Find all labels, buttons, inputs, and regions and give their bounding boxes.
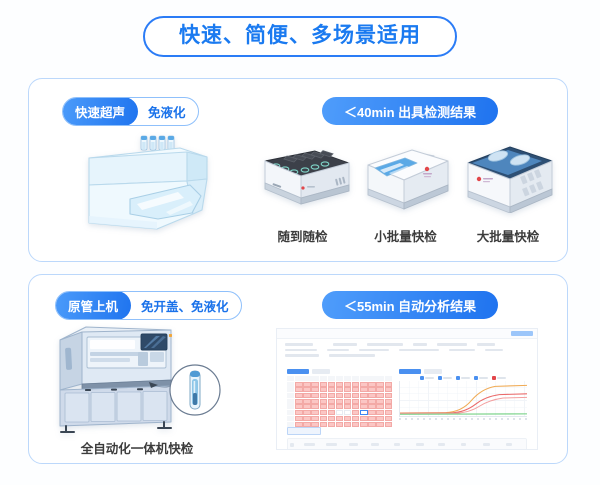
plate-well[interactable] (352, 382, 359, 387)
plate-well[interactable] (303, 399, 310, 404)
well-plate-panel (287, 369, 392, 421)
plate-well[interactable] (311, 410, 318, 415)
solid-pill-2: ＜55min 自动分析结果 (322, 291, 498, 319)
plate-well[interactable] (303, 382, 310, 387)
plate-row-header (287, 422, 294, 427)
badge-rapid-ultrasound: 快速超声 免液化 (62, 97, 199, 126)
axis-tick (399, 418, 401, 420)
plate-well[interactable] (376, 404, 383, 409)
plate-col-header (344, 376, 351, 381)
plate-col-header (368, 376, 375, 381)
amplification-chart-panel (399, 369, 527, 421)
small-batch-analyzer-illustration (360, 143, 456, 213)
split-pill-1-secondary: 免液化 (138, 98, 198, 125)
plate-well[interactable] (295, 416, 302, 421)
plate-well[interactable] (328, 416, 335, 421)
plate-well[interactable] (385, 393, 392, 398)
plate-well[interactable] (311, 422, 318, 427)
header-checkbox-cell[interactable] (288, 443, 302, 447)
chart-x-axis (399, 418, 527, 420)
plate-well[interactable] (336, 422, 343, 427)
plate-well[interactable] (352, 393, 359, 398)
plate-well[interactable] (385, 387, 392, 392)
chart-tab-active[interactable] (399, 369, 421, 374)
plate-well[interactable] (344, 387, 351, 392)
plate-well[interactable] (344, 404, 351, 409)
axis-tick (483, 418, 485, 420)
plate-well[interactable] (344, 416, 351, 421)
ultrasonic-device-illustration (62, 130, 242, 240)
plate-well[interactable] (295, 393, 302, 398)
plate-col-header (311, 376, 318, 381)
plate-well[interactable] (376, 410, 383, 415)
plate-well[interactable] (385, 404, 392, 409)
plate-row-header (287, 410, 294, 415)
sample-tube-icon (190, 371, 200, 409)
results-table (287, 438, 527, 450)
axis-tick (435, 418, 437, 420)
promo-page: 快速、简便、多场景适用 快速超声 免液化 ＜40min 出具检测结果 (0, 0, 600, 485)
plate-well[interactable] (368, 399, 375, 404)
plate-well[interactable] (368, 410, 375, 415)
plate-well[interactable] (344, 422, 351, 427)
plate-well[interactable] (344, 393, 351, 398)
plate-row-header (287, 399, 294, 404)
axis-tick (501, 418, 503, 420)
plate-well[interactable] (368, 382, 375, 387)
software-titlebar (277, 329, 537, 339)
plate-well[interactable] (311, 382, 318, 387)
axis-tick (405, 418, 407, 420)
plate-well[interactable] (320, 404, 327, 409)
plate-col-header (336, 376, 343, 381)
plate-well[interactable] (376, 382, 383, 387)
plate-well[interactable] (360, 422, 367, 427)
plate-well[interactable] (360, 399, 367, 404)
header-cell (481, 443, 503, 446)
table-header-row (288, 439, 526, 450)
plate-well[interactable] (385, 382, 392, 387)
plate-well[interactable] (344, 399, 351, 404)
legend-item-4 (474, 376, 488, 380)
plate-well[interactable] (352, 399, 359, 404)
plate-well[interactable] (376, 422, 383, 427)
plate-well[interactable] (344, 382, 351, 387)
plate-well[interactable] (311, 393, 318, 398)
legend-item-1 (420, 376, 434, 380)
plate-well[interactable] (360, 393, 367, 398)
solid-pill-1: ＜40min 出具检测结果 (322, 97, 498, 125)
axis-tick (477, 418, 479, 420)
plate-col-header (360, 376, 367, 381)
sample-tube-callout (168, 363, 222, 417)
split-pill-1-primary: 快速超声 (62, 97, 138, 126)
plate-well[interactable] (328, 422, 335, 427)
export-button[interactable] (287, 427, 321, 435)
header-cell (324, 443, 346, 446)
header-cell (459, 443, 481, 446)
plate-well[interactable] (328, 393, 335, 398)
axis-tick (423, 418, 425, 420)
header-cell (369, 443, 391, 446)
plate-well[interactable] (336, 382, 343, 387)
plate-well[interactable] (336, 393, 343, 398)
software-primary-button[interactable] (511, 331, 533, 336)
plate-well[interactable] (385, 422, 392, 427)
plate-well[interactable] (320, 416, 327, 421)
plate-well[interactable] (352, 410, 359, 415)
plate-well[interactable] (385, 399, 392, 404)
amplification-plot (399, 381, 527, 417)
pcr-analysis-software-screenshot (276, 328, 538, 450)
plate-col-header (385, 376, 392, 381)
caption-small-batch-analyzer: 小批量快检 (358, 226, 453, 245)
plate-well[interactable] (368, 422, 375, 427)
plate-well[interactable] (311, 404, 318, 409)
rapid-analyzer-illustration (253, 143, 355, 213)
plate-well[interactable] (303, 404, 310, 409)
plate-well[interactable] (295, 387, 302, 392)
plate-well[interactable] (336, 387, 343, 392)
plate-well[interactable] (320, 393, 327, 398)
plate-well[interactable] (352, 416, 359, 421)
chart-tab-inactive[interactable] (424, 369, 442, 374)
plate-well[interactable] (320, 387, 327, 392)
caption-large-batch-analyzer: 大批量快检 (458, 226, 558, 245)
plate-well[interactable] (311, 416, 318, 421)
plate-col-header (287, 376, 294, 381)
plate-well[interactable] (320, 410, 327, 415)
axis-tick (507, 418, 509, 420)
axis-tick (453, 418, 455, 420)
plate-well[interactable] (344, 410, 351, 415)
plate-well[interactable] (328, 399, 335, 404)
plate-well[interactable] (295, 404, 302, 409)
axis-tick (429, 418, 431, 420)
plate-well[interactable] (368, 404, 375, 409)
plate-col-header (376, 376, 383, 381)
header-cell (347, 443, 369, 446)
caption-rapid-analyzer: 随到随检 (255, 226, 350, 245)
plate-row-header (287, 404, 294, 409)
plate-well[interactable] (311, 387, 318, 392)
plate-well[interactable] (360, 410, 367, 415)
badge-original-tube: 原管上机 免开盖、免液化 (55, 291, 242, 320)
axis-tick (525, 418, 527, 420)
axis-tick (471, 418, 473, 420)
plate-col-header (352, 376, 359, 381)
plate-well[interactable] (295, 410, 302, 415)
plate-well[interactable] (360, 404, 367, 409)
axis-tick (411, 418, 413, 420)
header-cell (504, 443, 526, 446)
legend-item-3 (456, 376, 470, 380)
axis-tick (465, 418, 467, 420)
plate-well[interactable] (295, 422, 302, 427)
plate-row-header (287, 416, 294, 421)
axis-tick (519, 418, 521, 420)
page-title: 快速、简便、多场景适用 (179, 25, 421, 46)
plate-well[interactable] (320, 422, 327, 427)
plate-well[interactable] (303, 410, 310, 415)
plate-well[interactable] (352, 422, 359, 427)
plate-well[interactable] (336, 410, 343, 415)
plate-well[interactable] (376, 393, 383, 398)
plate-well[interactable] (303, 416, 310, 421)
header-cell (302, 443, 324, 446)
legend-item-2 (438, 376, 452, 380)
caption-automated-workstation: 全自动化一体机快检 (62, 438, 212, 457)
plate-row-header (287, 382, 294, 387)
plate-well[interactable] (328, 387, 335, 392)
header-cell (436, 443, 458, 446)
plate-well[interactable] (303, 422, 310, 427)
axis-tick (495, 418, 497, 420)
plate-well[interactable] (368, 387, 375, 392)
plate-well[interactable] (360, 382, 367, 387)
plate-well[interactable] (368, 393, 375, 398)
plate-well[interactable] (295, 382, 302, 387)
badge-40min-result: ＜40min 出具检测结果 (322, 97, 498, 125)
page-title-container: 快速、简便、多场景适用 (0, 16, 600, 57)
plate-well[interactable] (336, 404, 343, 409)
plate-well[interactable] (328, 382, 335, 387)
plate-well[interactable] (376, 416, 383, 421)
plate-well[interactable] (311, 399, 318, 404)
plate-col-header (303, 376, 310, 381)
plate-well[interactable] (336, 399, 343, 404)
plate-tab-active[interactable] (287, 369, 309, 374)
plate-well[interactable] (320, 399, 327, 404)
plate-well[interactable] (303, 393, 310, 398)
plate-well[interactable] (360, 387, 367, 392)
plate-well[interactable] (336, 416, 343, 421)
split-pill-2-primary: 原管上机 (55, 291, 131, 320)
plate-col-header (295, 376, 302, 381)
page-title-pill: 快速、简便、多场景适用 (143, 16, 457, 57)
axis-tick (441, 418, 443, 420)
plate-well[interactable] (352, 387, 359, 392)
split-pill-2-secondary: 免开盖、免液化 (131, 292, 241, 319)
chart-tab-group[interactable] (399, 369, 527, 374)
plate-well[interactable] (328, 410, 335, 415)
plate-row-header (287, 393, 294, 398)
software-metadata-fields (285, 343, 529, 357)
plate-col-header (328, 376, 335, 381)
well-plate-grid[interactable] (287, 376, 392, 427)
plate-well[interactable] (352, 404, 359, 409)
axis-tick (513, 418, 515, 420)
header-cell (392, 443, 414, 446)
plate-well[interactable] (328, 404, 335, 409)
plate-well[interactable] (295, 399, 302, 404)
plate-tab-inactive[interactable] (312, 369, 330, 374)
badge-55min-result: ＜55min 自动分析结果 (322, 291, 498, 319)
plate-well[interactable] (320, 382, 327, 387)
split-pill-1: 快速超声 免液化 (62, 97, 199, 126)
legend-item-5 (492, 376, 506, 380)
axis-tick (417, 418, 419, 420)
plate-well[interactable] (360, 416, 367, 421)
plate-row-header (287, 387, 294, 392)
axis-tick (447, 418, 449, 420)
plate-well[interactable] (368, 416, 375, 421)
header-cell (414, 443, 436, 446)
plate-well[interactable] (385, 416, 392, 421)
chart-legend (399, 376, 527, 380)
split-pill-2: 原管上机 免开盖、免液化 (55, 291, 242, 320)
plate-tab-group[interactable] (287, 369, 392, 374)
plate-well[interactable] (385, 410, 392, 415)
results-table-panel (287, 427, 527, 445)
axis-tick (489, 418, 491, 420)
plate-well[interactable] (303, 387, 310, 392)
plate-well[interactable] (376, 399, 383, 404)
plate-well[interactable] (376, 387, 383, 392)
vial-group (141, 136, 174, 150)
plate-col-header (320, 376, 327, 381)
large-batch-analyzer-illustration (458, 141, 562, 213)
axis-tick (459, 418, 461, 420)
